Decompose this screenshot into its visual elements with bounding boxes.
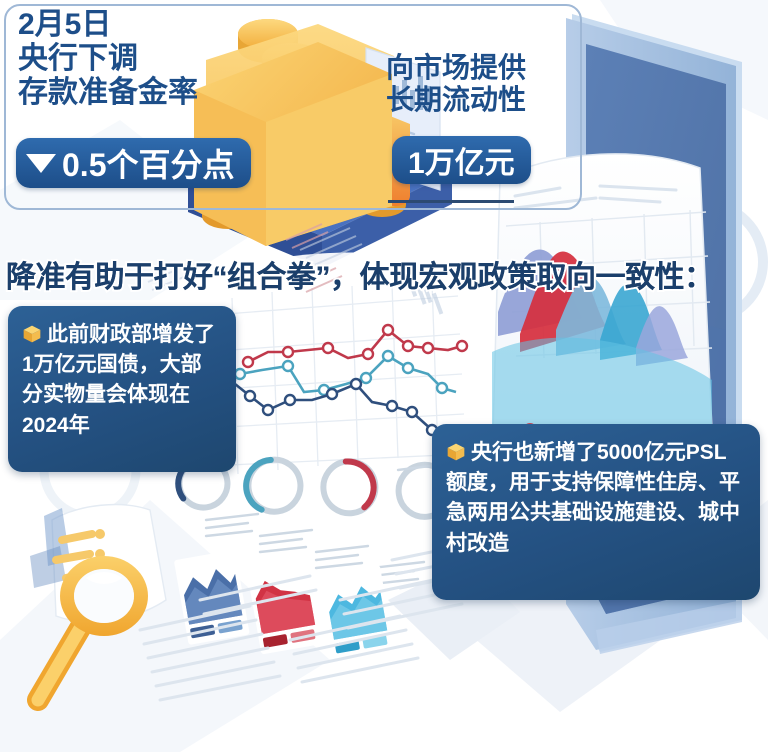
page-title: 降准有助于打好“组合拳”，体现宏观政策取向一致性： <box>6 252 766 296</box>
kicker-right-line2: 长期流动性 <box>386 84 616 116</box>
right-divider-rule <box>388 200 514 203</box>
kicker-line2: 央行下调 <box>18 42 318 76</box>
rate-cut-value: 0.5个百分点 <box>62 140 235 186</box>
kicker-line3: 存款准备金率 <box>18 76 318 110</box>
info-box-fiscal: 此前财政部增发了1万亿元国债，大部分实物量会体现在2024年 <box>8 306 236 472</box>
info-right-seg-2: ，用于支持保障性住房、平急两用公共基础设施建设、城中村改造 <box>446 471 740 554</box>
infographic-canvas: 2月5日 央行下调 存款准备金率 0.5个百分点 向市场提供 长期流动性 1万亿… <box>0 0 768 752</box>
gold-cube-icon <box>446 442 466 462</box>
info-left-text: 此前财政部增发了1万亿元国债，大部分实物量会体现在2024年 <box>22 323 215 437</box>
triangle-down-icon <box>26 154 56 173</box>
liquidity-amount-value: 1万亿元 <box>408 138 515 182</box>
liquidity-amount-badge: 1万亿元 <box>392 136 531 184</box>
kicker-right-line1: 向市场提供 <box>386 52 616 84</box>
rate-cut-badge: 0.5个百分点 <box>16 138 251 188</box>
info-right-text: 央行也新增了5000亿元PSL额度，用于支持保障性住房、平急两用公共基础设施建设… <box>446 441 740 555</box>
info-right-seg-0: 央行也 <box>471 441 534 464</box>
info-box-psl: 央行也新增了5000亿元PSL额度，用于支持保障性住房、平急两用公共基础设施建设… <box>432 424 760 600</box>
area-card-row <box>174 525 395 684</box>
top-right-kicker: 向市场提供 长期流动性 <box>386 52 616 116</box>
info-left-seg-0: 此前财政部 <box>47 323 152 346</box>
kicker-date: 2月5日 <box>18 8 318 42</box>
gold-cube-icon <box>22 324 42 344</box>
top-left-kicker: 2月5日 央行下调 存款准备金率 <box>18 8 318 111</box>
